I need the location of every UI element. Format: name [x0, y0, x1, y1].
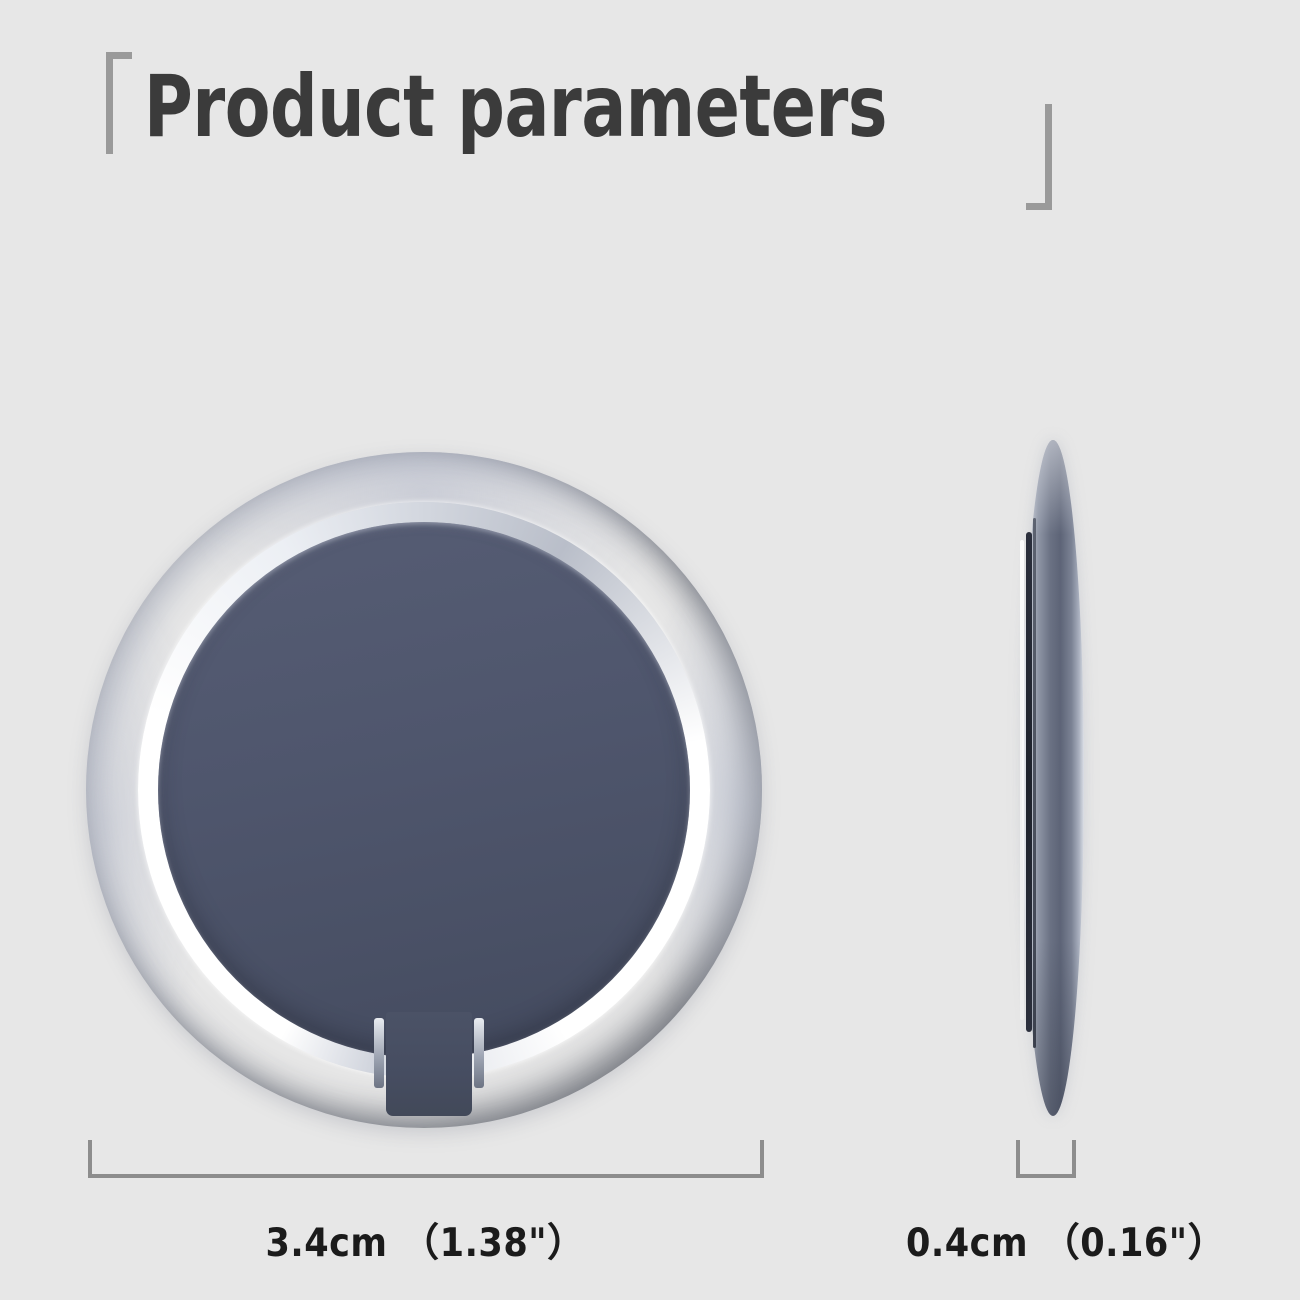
- product-illustration: 3.4cm （1.38"） 0.4cm （0.16"）: [0, 0, 1300, 1300]
- side-view-gloss: [1020, 540, 1024, 1020]
- side-view-plate-seam: [1033, 518, 1036, 1048]
- hinge-left: [374, 1018, 384, 1088]
- diameter-label: 3.4cm （1.38"）: [88, 1212, 764, 1268]
- ring-holder-side-view: [1008, 440, 1094, 1116]
- thickness-label: 0.4cm （0.16"）: [906, 1212, 1186, 1268]
- plate-bottom-tab: [386, 1012, 472, 1116]
- side-view-plate-edge: [1026, 532, 1032, 1032]
- inner-plate-edge: [158, 522, 690, 1058]
- inner-plate: [158, 522, 690, 1058]
- hinge-right: [474, 1018, 484, 1088]
- diameter-measure-bracket: [88, 1140, 764, 1178]
- product-parameters-page: Product parameters: [0, 0, 1300, 1300]
- ring-holder-front-view: [86, 452, 762, 1128]
- thickness-measure-bracket: [1016, 1140, 1076, 1178]
